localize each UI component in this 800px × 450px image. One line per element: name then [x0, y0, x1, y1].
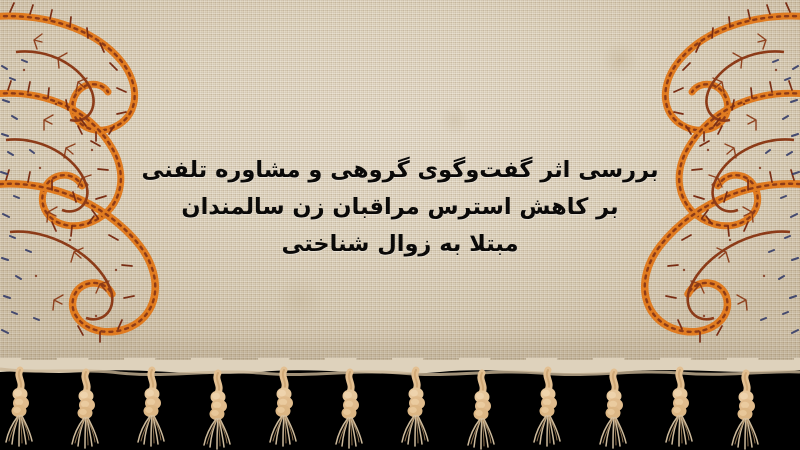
title-line-1: بررسی اثر گفت‌وگوی گروهی و مشاوره تلفنی	[0, 152, 800, 189]
title-line-2: بر کاهش استرس مراقبان زن سالمندان	[0, 189, 800, 226]
title-slide: بررسی اثر گفت‌وگوی گروهی و مشاوره تلفنی …	[0, 0, 800, 450]
title-line-3: مبتلا به زوال شناختی	[0, 226, 800, 263]
fringe-icon	[0, 360, 800, 450]
tassel-group	[6, 370, 758, 449]
slide-title: بررسی اثر گفت‌وگوی گروهی و مشاوره تلفنی …	[0, 152, 800, 263]
tassel-fringe	[0, 360, 800, 450]
